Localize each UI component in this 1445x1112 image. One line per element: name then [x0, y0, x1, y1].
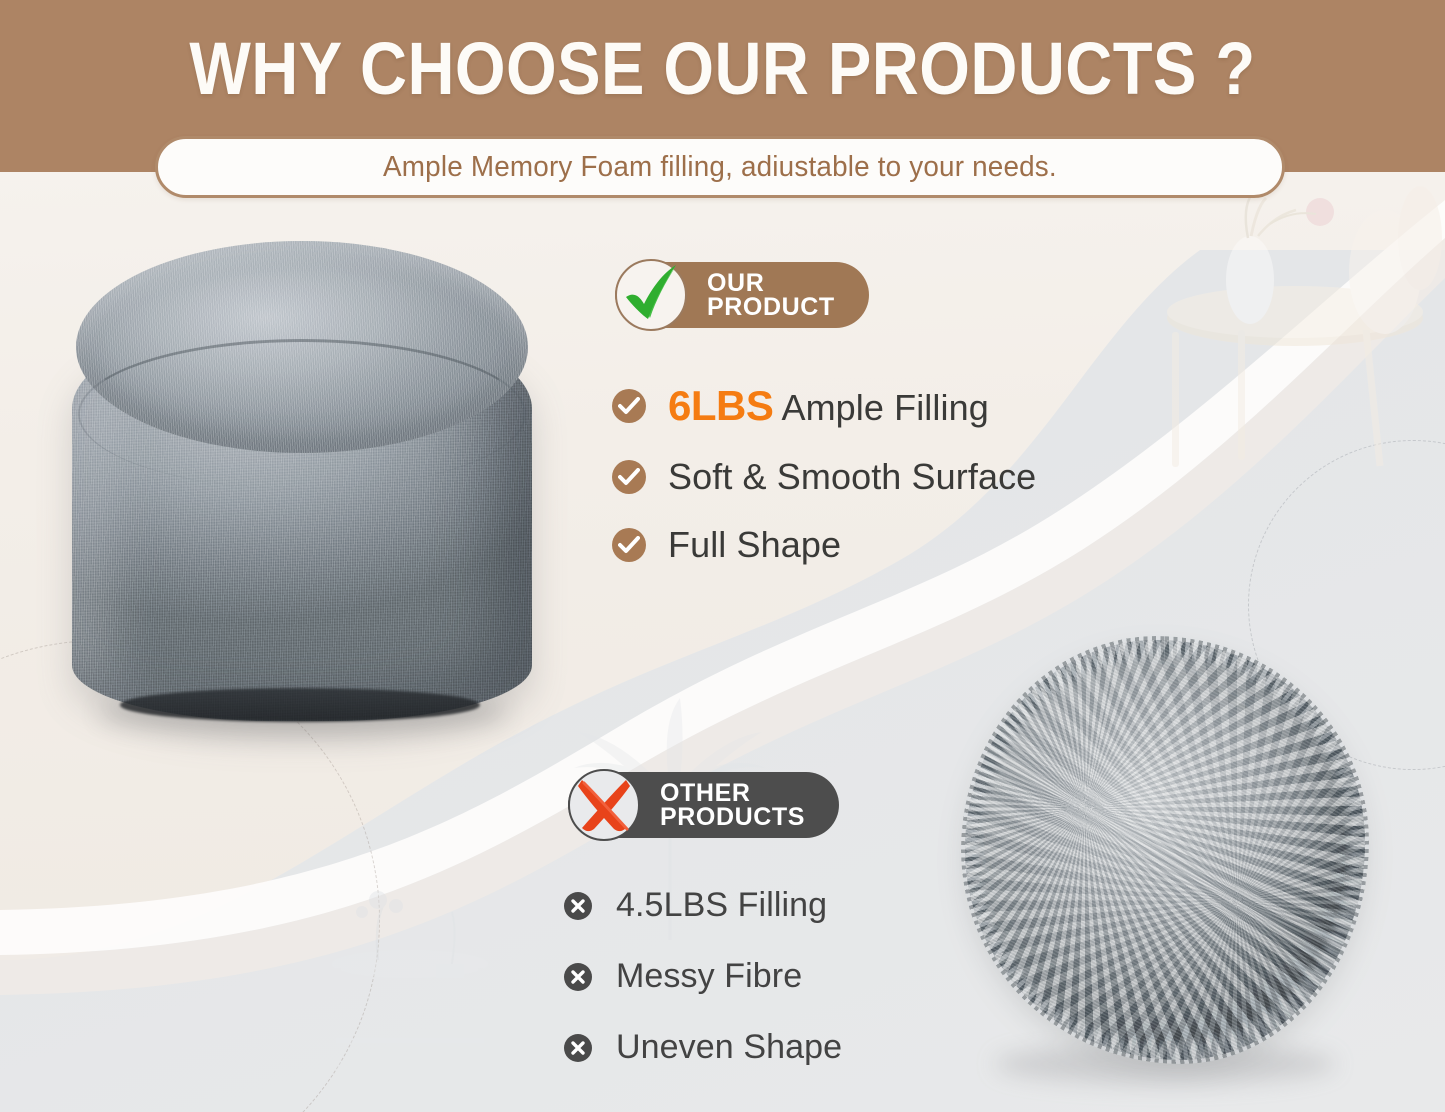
other-product-image: [965, 640, 1365, 1080]
check-glyph: [618, 536, 640, 554]
decor-side-table-scene: [1130, 180, 1445, 580]
other-products-badge: OTHER PRODUCTS: [568, 772, 839, 838]
our-product-badge-label: OUR PRODUCT: [707, 271, 835, 320]
red-x-icon: [568, 769, 640, 841]
x-glyph: [570, 969, 586, 985]
x-icon: [564, 892, 592, 920]
feature-label: Soft & Smooth Surface: [668, 456, 1036, 498]
check-icon: [612, 528, 646, 562]
feature-text: 6LBS Ample Filling: [668, 382, 989, 430]
feature-label: Full Shape: [668, 524, 841, 566]
list-item: 6LBS Ample Filling: [612, 382, 1036, 430]
subtitle-text: Ample Memory Foam filling, adiustable to…: [383, 151, 1057, 184]
x-icon: [564, 963, 592, 991]
list-item: Soft & Smooth Surface: [612, 456, 1036, 498]
x-glyph: [570, 1040, 586, 1056]
our-product-feature-list: 6LBS Ample Filling Soft & Smooth Surface…: [612, 382, 1036, 592]
x-glyph: [570, 898, 586, 914]
green-check-glyph: [619, 264, 683, 326]
check-icon: [612, 460, 646, 494]
feature-label: Ample Filling: [773, 387, 988, 428]
our-product-seam: [78, 339, 526, 489]
check-icon: [612, 389, 646, 423]
x-icon: [564, 1034, 592, 1062]
check-glyph: [618, 397, 640, 415]
red-x-glyph: [572, 774, 636, 836]
list-item: Uneven Shape: [564, 1028, 842, 1067]
check-glyph: [618, 468, 640, 486]
green-check-icon: [615, 259, 687, 331]
our-product-image: [62, 235, 542, 730]
list-item: Full Shape: [612, 524, 1036, 566]
other-product-body: [965, 640, 1365, 1060]
other-products-badge-label: OTHER PRODUCTS: [660, 781, 805, 830]
list-item: 4.5LBS Filling: [564, 886, 842, 925]
feature-label: Uneven Shape: [616, 1028, 842, 1067]
feature-label: 4.5LBS Filling: [616, 886, 827, 925]
our-product-badge: OUR PRODUCT: [615, 262, 869, 328]
list-item: Messy Fibre: [564, 957, 842, 996]
our-product-base-trim: [120, 688, 480, 722]
feature-label: Messy Fibre: [616, 957, 802, 996]
infographic-canvas: WHY CHOOSE OUR PRODUCTS ? Ample Memory F…: [0, 0, 1445, 1112]
other-products-feature-list: 4.5LBS Filling Messy Fibre Uneven Shape: [564, 886, 842, 1099]
feature-highlight: 6LBS: [668, 382, 773, 429]
subtitle-pill: Ample Memory Foam filling, adiustable to…: [155, 136, 1285, 198]
page-title: WHY CHOOSE OUR PRODUCTS ?: [87, 32, 1359, 106]
